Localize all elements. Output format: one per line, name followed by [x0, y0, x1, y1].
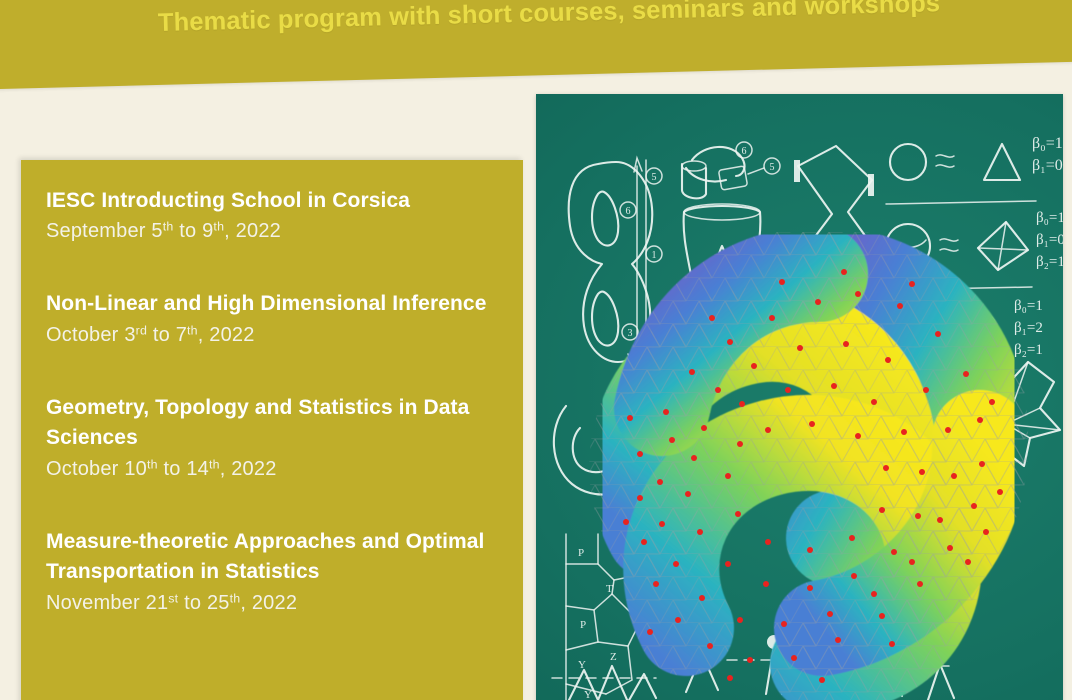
event-date-month: September [46, 220, 146, 242]
event-date-end: 25 [207, 592, 230, 614]
event-date-end-ordinal: th [213, 220, 224, 234]
event-date-year: 2022 [231, 458, 276, 480]
event-date-start: 5 [151, 220, 162, 242]
event-date-end: 9 [202, 220, 213, 242]
trefoil-knot-illustration [582, 232, 1052, 700]
event-date-year: 2022 [252, 592, 297, 614]
event-date-start-ordinal: rd [136, 323, 147, 337]
event-date-start: 3 [124, 324, 135, 346]
event-title: Measure-theoretic Approaches and Optimal… [46, 527, 509, 588]
svg-text:6: 6 [742, 146, 747, 157]
event-date-separator: to [184, 592, 201, 614]
event-date-start: 21 [146, 592, 169, 614]
event-date-end: 7 [176, 324, 187, 346]
event-date-year: 2022 [236, 220, 281, 242]
event-date-year: 2022 [209, 324, 254, 346]
svg-text:5: 5 [770, 162, 775, 173]
event-title: Non-Linear and High Dimensional Inferenc… [46, 289, 509, 319]
event-date: October 3rd to 7th, 2022 [46, 321, 509, 349]
list-item[interactable]: IESC Introducting School in Corsica Sept… [46, 186, 509, 245]
list-item[interactable]: Non-Linear and High Dimensional Inferenc… [46, 289, 509, 348]
list-item[interactable]: Geometry, Topology and Statistics in Dat… [46, 393, 509, 483]
svg-text:6: 6 [626, 206, 631, 217]
event-date-separator: to [163, 458, 180, 480]
illustration-panel: 6 5 1 3 5 6 [536, 94, 1063, 700]
list-item[interactable]: Measure-theoretic Approaches and Optimal… [46, 527, 509, 617]
svg-text:β₀=1: β₀=1 [1032, 135, 1063, 152]
event-date-end-ordinal: th [230, 591, 241, 605]
event-date-start: 10 [124, 458, 147, 480]
event-date-start-ordinal: th [163, 220, 174, 234]
event-date: November 21st to 25th, 2022 [46, 589, 509, 617]
event-date-start-ordinal: th [147, 457, 158, 471]
event-date: October 10th to 14th, 2022 [46, 455, 509, 483]
event-title: IESC Introducting School in Corsica [46, 186, 509, 216]
svg-text:β₁=0: β₁=0 [1032, 157, 1063, 174]
program-event-list: IESC Introducting School in Corsica Sept… [46, 186, 509, 617]
svg-text:5: 5 [652, 172, 657, 183]
poster-canvas: Thematic program with short courses, sem… [0, 0, 1072, 700]
top-banner [0, 0, 1072, 90]
event-date-end: 14 [186, 458, 209, 480]
event-date-month: November [46, 592, 140, 614]
event-date-end-ordinal: th [209, 457, 220, 471]
event-date-end-ordinal: th [187, 323, 198, 337]
program-card: IESC Introducting School in Corsica Sept… [21, 160, 523, 700]
event-date-month: October [46, 458, 119, 480]
svg-text:β₀=1: β₀=1 [1036, 210, 1063, 226]
event-date-separator: to [179, 220, 196, 242]
event-date: September 5th to 9th, 2022 [46, 217, 509, 245]
event-date-month: October [46, 324, 119, 346]
event-date-start-ordinal: st [168, 591, 178, 605]
event-title: Geometry, Topology and Statistics in Dat… [46, 393, 509, 454]
event-date-separator: to [153, 324, 170, 346]
